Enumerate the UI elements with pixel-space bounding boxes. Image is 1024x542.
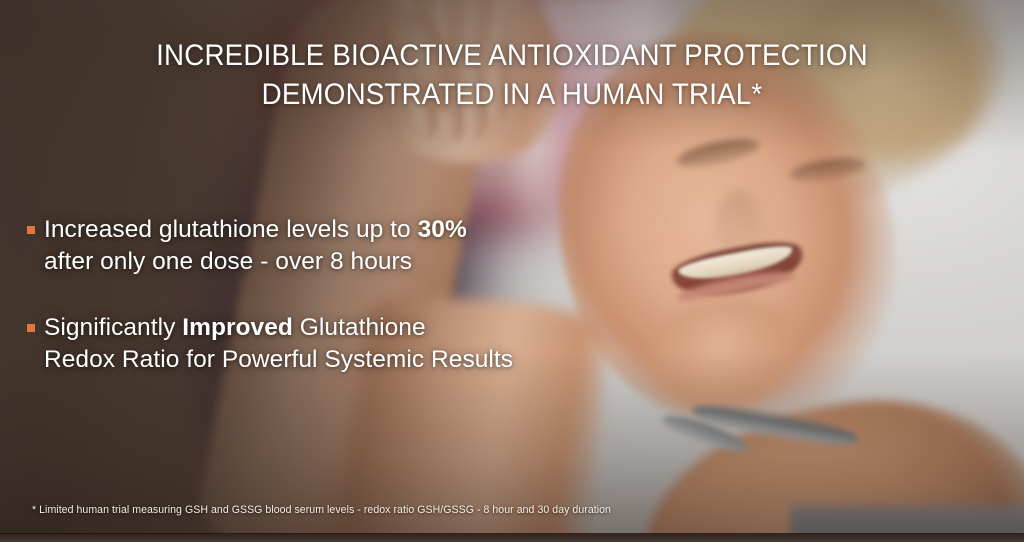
square-bullet-icon [27, 226, 35, 234]
bullet-1-line-2: after only one dose - over 8 hours [44, 246, 586, 278]
page-title-line-2: DEMONSTRATED IN A HUMAN TRIAL* [31, 75, 994, 114]
bullet-1-line-1: Increased glutathione levels up to 30% [44, 214, 586, 246]
bullet-2-text-prefix: Significantly [44, 314, 182, 341]
page-title: INCREDIBLE BIOACTIVE ANTIOXIDANT PROTECT… [31, 36, 994, 114]
page-title-line-1: INCREDIBLE BIOACTIVE ANTIOXIDANT PROTECT… [31, 36, 994, 75]
square-bullet-icon [27, 324, 35, 332]
bullet-2-line-2: Redox Ratio for Powerful Systemic Result… [44, 344, 586, 376]
bullet-2-text-suffix: Glutathione [293, 314, 426, 341]
marketing-slide: INCREDIBLE BIOACTIVE ANTIOXIDANT PROTECT… [0, 0, 1024, 542]
bottom-dark-bar [0, 534, 1024, 542]
benefit-bullet-list: Increased glutathione levels up to 30% a… [26, 214, 586, 376]
bullet-2-line-1: Significantly Improved Glutathione [44, 312, 586, 344]
list-item: Significantly Improved Glutathione Redox… [26, 312, 586, 376]
bullet-2-emphasis: Improved [182, 314, 293, 341]
footnote-disclaimer: * Limited human trial measuring GSH and … [32, 503, 611, 518]
list-item: Increased glutathione levels up to 30% a… [26, 214, 586, 278]
bullet-1-text-prefix: Increased glutathione levels up to [44, 216, 418, 243]
bullet-1-emphasis: 30% [418, 216, 467, 243]
